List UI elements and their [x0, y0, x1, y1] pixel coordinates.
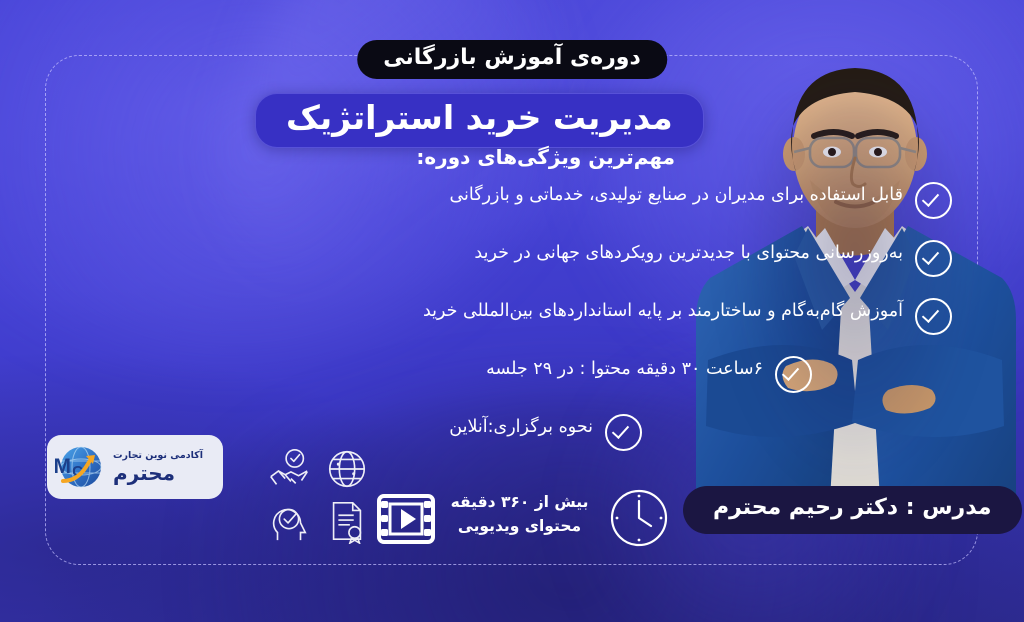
- feature-item: ۶ساعت ۳۰ دقیقه محتوا : در ۲۹ جلسه: [336, 354, 812, 393]
- check-circle-icon: [605, 414, 642, 451]
- handshake-check-icon: [266, 446, 312, 492]
- feature-label: نحوه برگزاری:آنلاین: [449, 412, 593, 443]
- instructor-badge: مدرس : دکتر رحیم محترم: [683, 486, 1022, 534]
- feature-label: ۶ساعت ۳۰ دقیقه محتوا : در ۲۹ جلسه: [486, 354, 763, 385]
- film-play-icon: [375, 490, 437, 548]
- logo-wordmark: آکادمی نوین تجارت محترم: [113, 451, 203, 484]
- feature-list: قابل استفاده برای مدیران در صنایع تولیدی…: [336, 180, 952, 470]
- logo-line-2: محترم: [113, 463, 175, 483]
- feature-item: آموزش گام‌به‌گام و ساختارمند بر پایه است…: [336, 296, 952, 335]
- top-badge: دوره‌ی آموزش بازرگانی: [357, 40, 667, 79]
- feature-icon-grid: [258, 446, 370, 546]
- banner-stage: دوره‌ی آموزش بازرگانی مدیریت خرید استرات…: [0, 0, 1024, 622]
- globe-icon: [324, 446, 370, 492]
- clock-icon: [608, 487, 670, 549]
- page-title: مدیریت خرید استراتژیک: [255, 93, 704, 148]
- globe-arrow-mc-logo-icon: M C: [55, 441, 107, 493]
- head-check-icon: [266, 498, 312, 544]
- feature-item: قابل استفاده برای مدیران در صنایع تولیدی…: [336, 180, 952, 219]
- video-content-label: بیش از ۳۶۰ دقیقه محتوای ویدیویی: [447, 490, 592, 538]
- check-circle-icon: [915, 240, 952, 277]
- feature-item: به‌روزرسانی محتوای با جدیدترین رویکردهای…: [336, 238, 952, 277]
- certificate-document-icon: [324, 498, 370, 544]
- check-circle-icon: [775, 356, 812, 393]
- check-circle-icon: [915, 182, 952, 219]
- svg-text:M: M: [55, 455, 71, 478]
- feature-item: نحوه برگزاری:آنلاین: [336, 412, 642, 451]
- feature-label: به‌روزرسانی محتوای با جدیدترین رویکردهای…: [336, 238, 903, 269]
- academy-logo: آکادمی نوین تجارت محترم M C: [47, 435, 223, 499]
- logo-line-1: آکادمی نوین تجارت: [113, 451, 203, 461]
- feature-label: قابل استفاده برای مدیران در صنایع تولیدی…: [336, 180, 903, 211]
- check-circle-icon: [915, 298, 952, 335]
- subtitle: مهم‌ترین ویژگی‌های دوره:: [416, 145, 675, 169]
- feature-label: آموزش گام‌به‌گام و ساختارمند بر پایه است…: [336, 296, 903, 327]
